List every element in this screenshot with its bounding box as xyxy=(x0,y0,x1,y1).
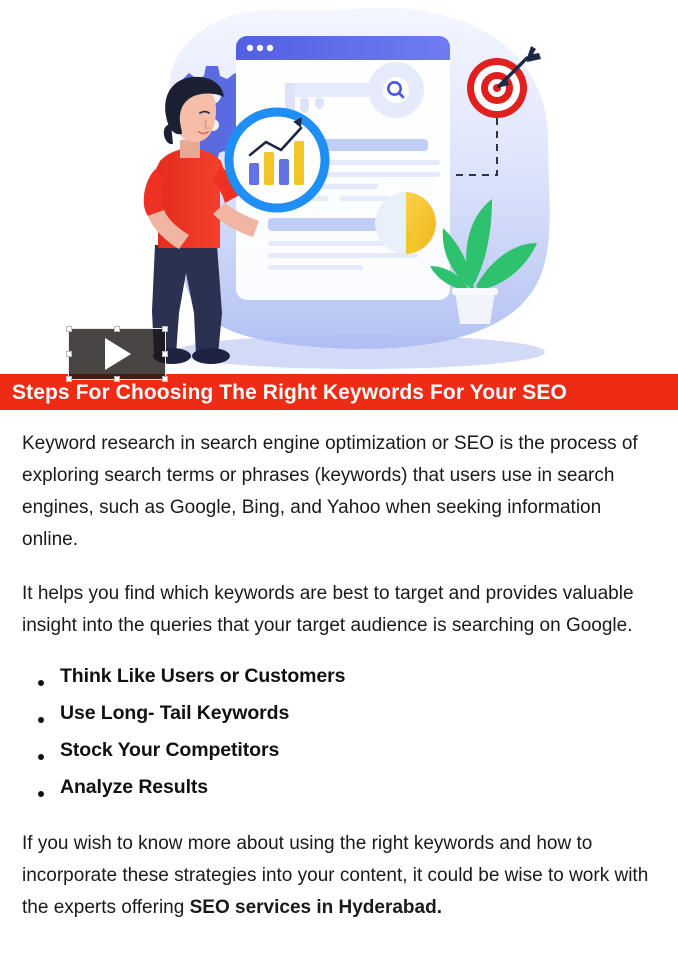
list-item-label: Think Like Users or Customers xyxy=(60,665,345,687)
list-item-label: Analyze Results xyxy=(60,776,208,798)
illustration-svg xyxy=(0,0,678,374)
closing-text-emphasis: SEO services in Hyderabad. xyxy=(190,897,442,918)
list-item-label: Stock Your Competitors xyxy=(60,739,279,761)
ground-shadow xyxy=(175,335,545,369)
browser-dot xyxy=(247,45,253,51)
list-item: Use Long- Tail Keywords xyxy=(0,699,678,727)
person-shoe xyxy=(192,348,230,364)
resize-handle-bottom-left[interactable] xyxy=(66,376,72,382)
play-triangle-icon[interactable] xyxy=(105,338,131,370)
paragraph-benefit: It helps you find which keywords are bes… xyxy=(0,556,678,642)
resize-handle-top-left[interactable] xyxy=(66,326,72,332)
list-item: Think Like Users or Customers xyxy=(0,662,678,690)
resize-handle-top-center[interactable] xyxy=(114,326,120,332)
list-item: Analyze Results xyxy=(0,773,678,801)
browser-dot xyxy=(257,45,263,51)
resize-handle-bottom-right[interactable] xyxy=(162,376,168,382)
plant-pot xyxy=(455,292,495,324)
list-item-label: Use Long- Tail Keywords xyxy=(60,702,289,724)
paragraph-closing: If you wish to know more about using the… xyxy=(0,810,678,924)
keyword-steps-list: Think Like Users or Customers Use Long- … xyxy=(0,642,678,801)
browser-dot xyxy=(267,45,273,51)
pie-chart xyxy=(375,192,437,254)
video-player-overlay[interactable] xyxy=(68,328,166,380)
resize-handle-bottom-center[interactable] xyxy=(114,376,120,382)
hero-illustration xyxy=(0,0,678,374)
resize-handle-middle-right[interactable] xyxy=(162,351,168,357)
list-item: Stock Your Competitors xyxy=(0,736,678,764)
magnifying-glass xyxy=(229,112,325,208)
resize-handle-top-right[interactable] xyxy=(162,326,168,332)
resize-handle-middle-left[interactable] xyxy=(66,351,72,357)
page-title: Steps For Choosing The Right Keywords Fo… xyxy=(0,382,567,403)
paragraph-intro: Keyword research in search engine optimi… xyxy=(0,410,678,556)
article-body: Keyword research in search engine optimi… xyxy=(0,410,678,924)
